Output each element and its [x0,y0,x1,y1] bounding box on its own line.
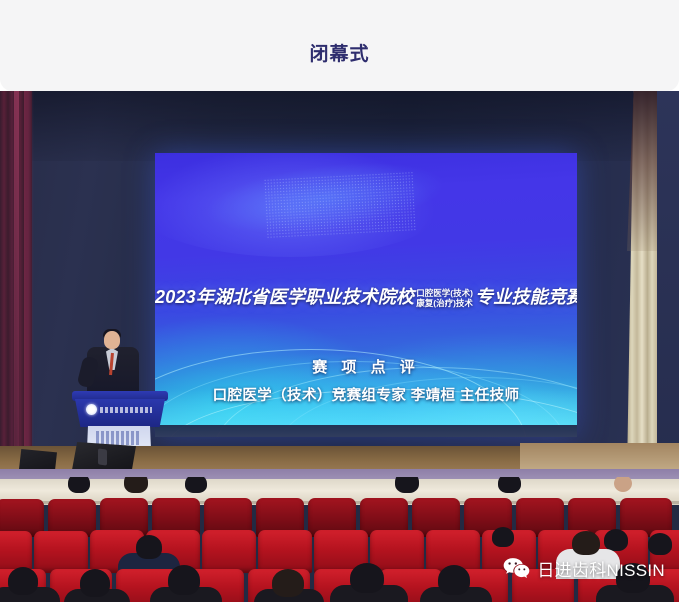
audience-head [136,535,162,559]
led-banner-title-prefix: 2023年湖北省医学职业技术院校 [155,287,414,307]
audience-head [68,477,90,493]
audience-head [168,565,200,595]
header-card: 闭幕式 [0,0,679,91]
audience-head [648,533,672,555]
wechat-watermark: 日进齿科NISSIN [503,556,665,581]
podium-emblem-icon [86,404,97,415]
audience-seating [0,477,679,602]
audience-head [572,531,600,555]
stage-monitor-grill [98,448,107,465]
led-banner-stacked-line-1: 口腔医学(技术) [416,288,473,298]
audience-head [8,567,38,595]
audience-head [498,477,521,493]
podium-emblem-text [100,407,152,413]
led-banner-title: 2023年湖北省医学职业技术院校口腔医学(技术)康复(治疗)技术专业技能竞赛 [155,286,577,308]
wechat-account-name: 日进齿科NISSIN [537,556,665,581]
led-banner-stacked-line-2: 康复(治疗)技术 [416,298,473,308]
led-subtitle-speaker: 口腔医学（技术）竞赛组专家 李靖桓 主任技师 [155,384,577,405]
audience-head [492,527,514,547]
audience-head [80,569,110,597]
audience-head [272,569,304,597]
audience-head [614,477,632,492]
wechat-icon [503,557,530,580]
led-banner-title-suffix: 专业技能竞赛 [475,287,577,307]
backdrop-top-shade [0,91,679,161]
audience-head [185,477,207,493]
audience-head [124,477,148,493]
led-screen-bottom-bar [155,425,577,437]
audience-head [604,529,628,551]
led-dot-texture [264,171,417,239]
audience-head [438,565,470,595]
seat [34,531,88,573]
page-root: 闭幕式 2023年湖北省医学职业技术院校口腔医学(技术)康复(治疗)技术专业技能… [0,0,679,602]
left-curtain-highlight-band [14,91,19,469]
right-wall [655,91,679,473]
audience-head [395,477,419,493]
led-banner-title-stacked: 口腔医学(技术)康复(治疗)技术 [416,288,473,308]
podium-column-text [96,431,141,445]
left-curtain-edge [24,91,34,469]
seat [258,530,312,573]
speaker-head [104,331,120,349]
seat [202,530,256,573]
led-subtitle-session: 赛 项 点 评 [155,356,577,377]
page-title: 闭幕式 [0,44,679,66]
auditorium-photo: 2023年湖北省医学职业技术院校口腔医学(技术)康复(治疗)技术专业技能竞赛 赛… [0,91,679,602]
audience-head [350,563,384,593]
led-screen: 2023年湖北省医学职业技术院校口腔医学(技术)康复(治疗)技术专业技能竞赛 赛… [155,153,577,437]
